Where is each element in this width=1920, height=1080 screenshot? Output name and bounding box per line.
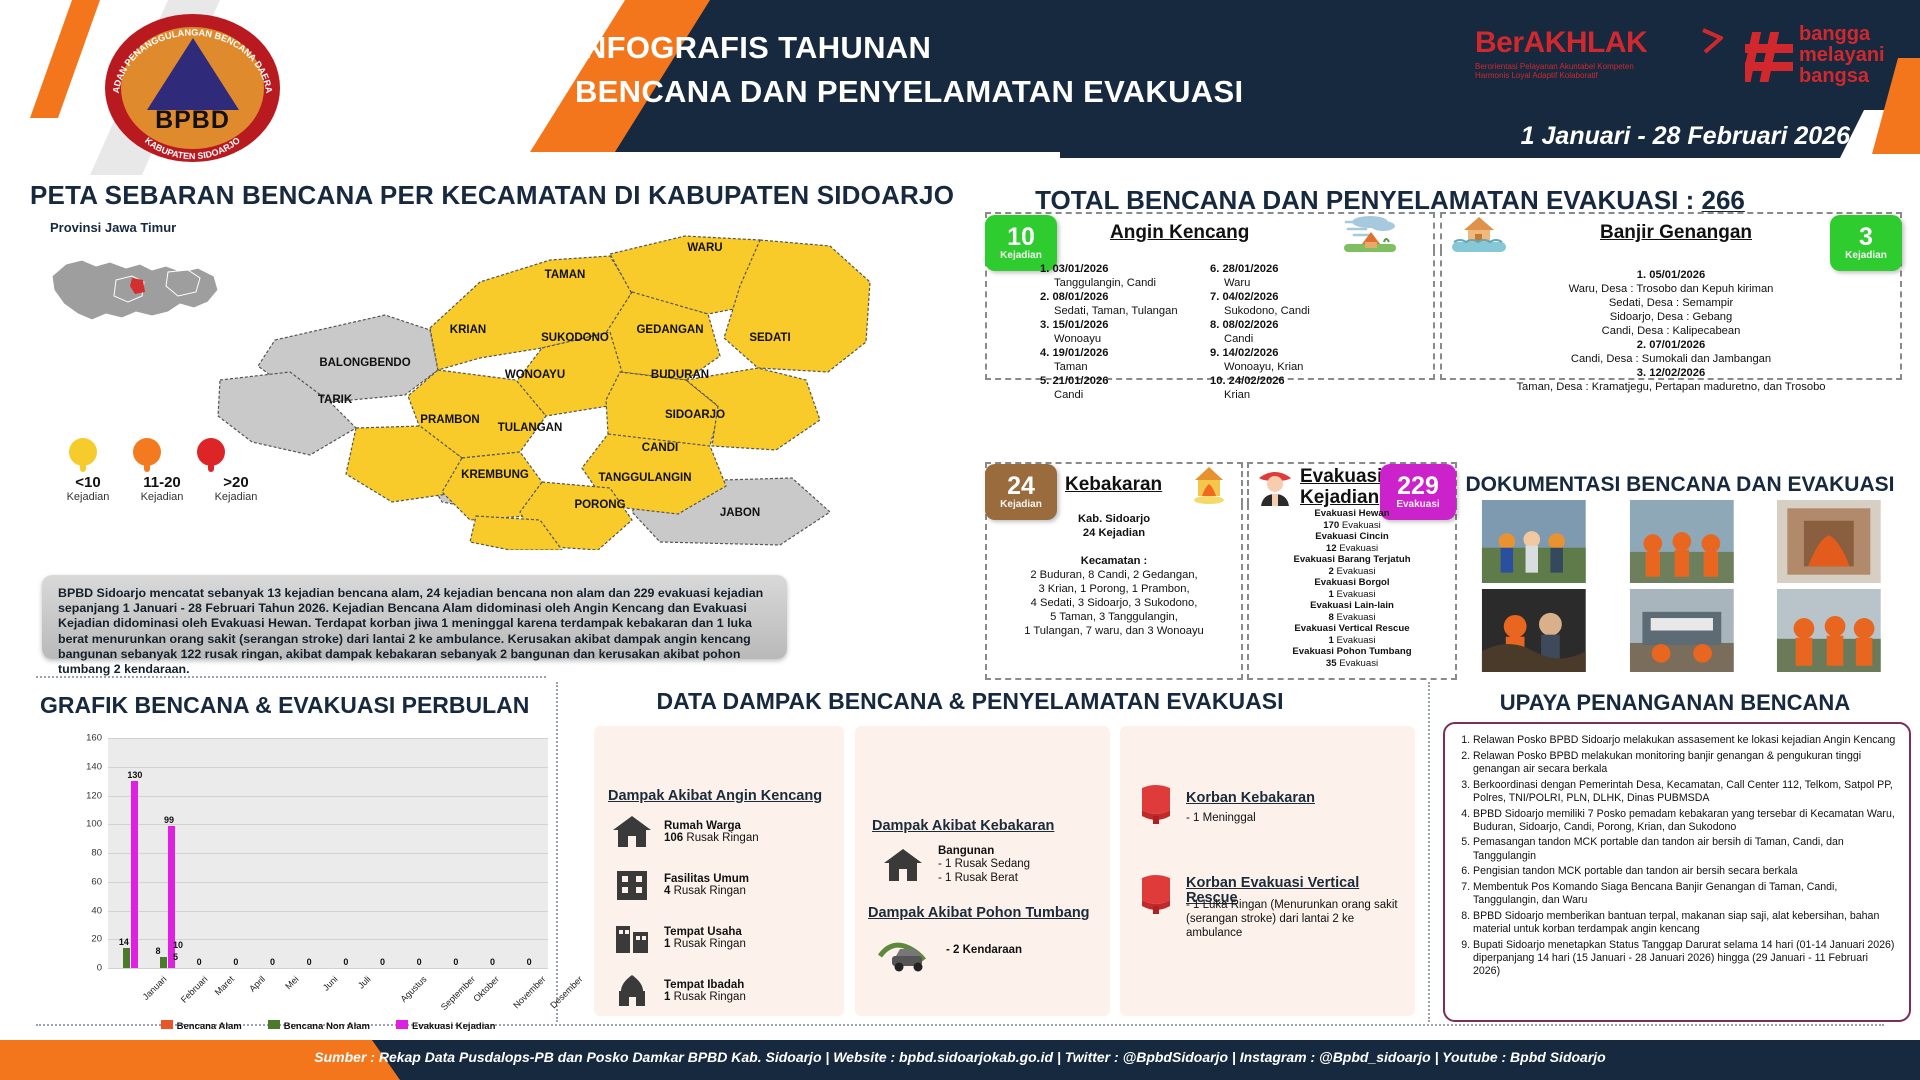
event-date: 2. 08/01/2026	[1040, 290, 1190, 304]
map-district-label: WARU	[687, 242, 722, 254]
chart-y-tick: 60	[91, 876, 102, 887]
victim-icon	[1136, 782, 1176, 824]
evakuasi-item-value: 170 Evakuasi	[1250, 520, 1454, 532]
chart-bar-label: 0	[453, 957, 458, 967]
chart-gridline	[108, 796, 548, 797]
photo-thumbnail[interactable]	[1758, 589, 1900, 672]
hashtag-icon	[1745, 28, 1795, 86]
summary-note-box: BPBD Sidoarjo mencatat sebanyak 13 kejad…	[42, 575, 787, 659]
legend-label: >20Kejadian	[203, 474, 269, 503]
chart-y-tick: 160	[86, 733, 102, 744]
header-orange-stripe-1	[30, 0, 100, 118]
bpbd-logo: BPBD BADAN PENANGGULANGAN BENCANA DAERAH…	[105, 14, 280, 162]
angin-kencang-item: 9. 14/02/2026Wonoayu, Krian	[1210, 346, 1370, 374]
event-place: Sedati, Taman, Tulangan	[1040, 304, 1190, 318]
monthly-chart: 02040608010012014016014130Januari899Febr…	[38, 728, 568, 1038]
map-district-label: TULANGAN	[498, 422, 563, 434]
chart-x-tick: November	[511, 974, 547, 1010]
page-title-line1: INFOGRAFIS TAHUNAN	[575, 26, 1243, 70]
total-count: 266	[1702, 185, 1745, 215]
shop-icon	[610, 919, 654, 957]
dampak-row: Rumah Warga106 Rusak Ringan	[610, 812, 842, 852]
chart-x-tick: Februari	[179, 974, 210, 1005]
svg-text:BADAN PENANGGULANGAN BENCANA D: BADAN PENANGGULANGAN BENCANA DAERAH	[105, 14, 274, 94]
divider-left	[36, 676, 546, 678]
event-place: Taman	[1040, 360, 1190, 374]
chart-legend: Bencana AlamBencana Non AlamEvakuasi Kej…	[108, 1020, 548, 1032]
chart-y-tick: 80	[91, 848, 102, 859]
bangga-line-2: melayani	[1799, 45, 1885, 66]
map-section-title: PETA SEBARAN BENCANA PER KECAMATAN DI KA…	[30, 180, 975, 211]
event-place: Tanggulangin, Candi	[1040, 276, 1190, 290]
upaya-item: BPBD Sidoarjo memberikan bantuan terpal,…	[1473, 910, 1897, 936]
dokumentasi-gallery	[1463, 500, 1900, 672]
legend-value: 11-20	[129, 474, 195, 491]
dampak-kebakaran-line2: - 1 Rusak Berat	[938, 871, 1108, 885]
page-header: BPBD BADAN PENANGGULANGAN BENCANA DAERAH…	[0, 0, 1920, 175]
dampak-pohon-heading: Dampak Akibat Pohon Tumbang	[868, 905, 1108, 921]
angin-kencang-item: 8. 08/02/2026Candi	[1210, 318, 1370, 346]
dampak-row: Fasilitas Umum4 Rusak Ringan	[610, 865, 842, 905]
total-title-prefix: TOTAL BENCANA DAN PENYELAMATAN EVAKUASI …	[1035, 185, 1701, 215]
legend-unit: Kejadian	[203, 491, 269, 503]
bangga-line-3: bangsa	[1799, 66, 1869, 87]
banjir-line: Candi, Desa : Kalipecabean	[1448, 324, 1894, 338]
chart-x-tick: September	[439, 974, 477, 1012]
map-district-label: WONOAYU	[505, 369, 565, 381]
chart-bar-label: 0	[380, 957, 385, 967]
event-date: 1. 03/01/2026	[1040, 262, 1190, 276]
map-district-label: SIDOARJO	[665, 409, 725, 421]
chart-title: GRAFIK BENCANA & EVAKUASI PERBULAN	[40, 692, 560, 719]
kebakaran-line: 24 Kejadian	[992, 526, 1236, 540]
banjir-line: Sedati, Desa : Semampir	[1448, 296, 1894, 310]
chart-legend-item: Bencana Alam	[161, 1020, 242, 1032]
legend-label: <10Kejadian	[55, 474, 121, 503]
upaya-box: Relawan Posko BPBD Sidoarjo melakukan as…	[1443, 722, 1911, 1022]
dampak-row-value: 106 Rusak Ringan	[664, 832, 759, 844]
berakhlak-wordmark: BerAKHLAK	[1475, 26, 1735, 60]
banjir-line: 2. 07/01/2026	[1448, 338, 1894, 352]
chart-x-tick: Januari	[141, 974, 169, 1002]
chart-bar-label: 8	[156, 946, 161, 956]
upaya-item: Pemasangan tandon MCK portable dan tando…	[1473, 836, 1897, 862]
legend-unit: Kejadian	[55, 491, 121, 503]
kebakaran-line: 5 Taman, 3 Tanggulangin,	[992, 610, 1236, 624]
dampak-row: Tempat Usaha1 Rusak Ringan	[610, 918, 842, 958]
chart-bar-label: 0	[307, 957, 312, 967]
map-district-label: TAMAN	[545, 269, 586, 281]
banjir-line: Candi, Desa : Sumokali dan Jambangan	[1448, 352, 1894, 366]
event-date: 10. 24/02/2026	[1210, 374, 1370, 388]
angin-kencang-item: 10. 24/02/2026Krian	[1210, 374, 1370, 402]
chart-bar-label: 130	[127, 770, 142, 780]
angin-kencang-item: 5. 21/01/2026Candi	[1040, 374, 1190, 402]
evakuasi-item-label: Evakuasi Pohon Tumbang	[1250, 646, 1454, 658]
evakuasi-item-label: Evakuasi Vertical Rescue	[1250, 623, 1454, 635]
chart-bar-label: 5	[173, 952, 178, 962]
fallen-tree-car-icon	[878, 934, 936, 972]
event-date: 4. 19/01/2026	[1040, 346, 1190, 360]
dampak-kebakaran-sub-label: Bangunan	[938, 845, 1108, 857]
chart-y-tick: 20	[91, 934, 102, 945]
event-date: 7. 04/02/2026	[1210, 290, 1370, 304]
banjir-line: Sidoarjo, Desa : Gebang	[1448, 310, 1894, 324]
berakhlak-logo: BerAKHLAK Berorientasi Pelayanan Akuntab…	[1475, 26, 1735, 96]
building-icon	[610, 866, 654, 904]
banjir-line: Waru, Desa : Trosobo dan Kepuh kiriman	[1448, 282, 1894, 296]
angin-kencang-item: 3. 15/01/2026Wonoayu	[1040, 318, 1190, 346]
dampak-angin-rows: Rumah Warga106 Rusak RinganFasilitas Umu…	[610, 812, 842, 1024]
evakuasi-item-label: Evakuasi Cincin	[1250, 531, 1454, 543]
upaya-item: Relawan Posko BPBD melakukan monitoring …	[1473, 750, 1897, 776]
province-label: Provinsi Jawa Timur	[50, 220, 176, 235]
legend-pin-icon	[133, 438, 161, 472]
svg-text:KABUPATEN SIDOARJO: KABUPATEN SIDOARJO	[143, 135, 242, 161]
angin-kencang-item: 4. 19/01/2026Taman	[1040, 346, 1190, 374]
photo-thumbnail[interactable]	[1611, 589, 1753, 672]
dampak-kebakaran-heading: Dampak Akibat Kebakaran	[872, 818, 1102, 834]
banjir-heading: Banjir Genangan	[1600, 222, 1752, 244]
legend-labels: <10Kejadian11-20Kejadian>20Kejadian	[55, 474, 245, 503]
map-district-label: TARIK	[318, 394, 352, 406]
angin-kencang-count-label: Kejadian	[1000, 250, 1042, 261]
chart-bar-label: 0	[343, 957, 348, 967]
dampak-row: Tempat Ibadah1 Rusak Ringan	[610, 971, 842, 1011]
kebakaran-details: Kab. Sidoarjo24 Kejadian Kecamatan :2 Bu…	[992, 512, 1236, 638]
legend-value: >20	[203, 474, 269, 491]
legend-pin-icon	[69, 438, 97, 472]
angin-kencang-item: 6. 28/01/2026Waru	[1210, 262, 1370, 290]
dampak-pohon-value: - 2 Kendaraan	[946, 944, 1022, 956]
event-date: 8. 08/02/2026	[1210, 318, 1370, 332]
dampak-row-value: 4 Rusak Ringan	[664, 885, 749, 897]
chart-y-tick: 140	[86, 761, 102, 772]
chart-bar	[160, 957, 167, 969]
chart-bar-label: 0	[417, 957, 422, 967]
map-district-label: BUDURAN	[651, 369, 709, 381]
map-district-label: SEDATI	[749, 332, 790, 344]
event-date: 9. 14/02/2026	[1210, 346, 1370, 360]
chart-y-tick: 40	[91, 905, 102, 916]
chart-bar-label: 0	[527, 957, 532, 967]
upaya-item: Berkoordinasi dengan Pemerintah Desa, Ke…	[1473, 779, 1897, 805]
chart-y-tick: 100	[86, 819, 102, 830]
dampak-row-value: 1 Rusak Ringan	[664, 938, 746, 950]
korban-kebakaran-heading: Korban Kebakaran	[1186, 790, 1406, 806]
chart-gridline	[108, 767, 548, 768]
kebakaran-count: 24	[1007, 474, 1035, 499]
chart-x-tick: Mei	[283, 974, 300, 991]
upaya-item: Bupati Sidoarjo menetapkan Status Tangga…	[1473, 939, 1897, 979]
chart-bar-label: 99	[164, 815, 174, 825]
footer-source-text: Sumber : Rekap Data Pusdalops-PB dan Pos…	[0, 1049, 1920, 1065]
evakuasi-item-value: 8 Evakuasi	[1250, 612, 1454, 624]
legend-pin-icon	[197, 438, 225, 472]
event-place: Waru	[1210, 276, 1370, 290]
event-date: 3. 15/01/2026	[1040, 318, 1190, 332]
berakhlak-subtitle-2: Harmonis Loyal Adaptif Kolaboratif	[1475, 71, 1735, 80]
event-place: Wonoayu	[1040, 332, 1190, 346]
chart-legend-item: Bencana Non Alam	[268, 1020, 370, 1032]
legend-unit: Kejadian	[129, 491, 195, 503]
banjir-line: 1. 05/01/2026	[1448, 268, 1894, 282]
firefighter-icon	[1253, 464, 1297, 508]
map-district-label: JABON	[720, 507, 760, 519]
kebakaran-line	[992, 540, 1236, 554]
kebakaran-count-label: Kejadian	[1000, 499, 1042, 510]
kebakaran-heading: Kebakaran	[1065, 474, 1162, 496]
chart-x-tick: April	[248, 974, 268, 994]
map-district-label: PRAMBON	[420, 414, 479, 426]
map-district-label: PORONG	[574, 499, 625, 511]
evakuasi-breakdown: Evakuasi Hewan170 EvakuasiEvakuasi Cinci…	[1250, 508, 1454, 669]
house-icon	[880, 845, 926, 885]
map-district-label: GEDANGAN	[636, 324, 703, 336]
angin-kencang-item: 7. 04/02/2026Sukodono, Candi	[1210, 290, 1370, 318]
map-district-label: KRIAN	[450, 324, 486, 336]
upaya-item: BPBD Sidoarjo memiliki 7 Posko pemadam k…	[1473, 808, 1897, 834]
chart-bar	[131, 781, 138, 968]
chart-gridline	[108, 968, 548, 969]
summary-note-text: BPBD Sidoarjo mencatat sebanyak 13 kejad…	[58, 586, 771, 677]
chart-bar-label: 0	[233, 957, 238, 967]
banjir-count-label: Kejadian	[1845, 250, 1887, 261]
chart-bar-label: 10	[173, 940, 183, 950]
kebakaran-line: Kab. Sidoarjo	[992, 512, 1236, 526]
wind-storm-icon	[1340, 212, 1400, 254]
angin-kencang-count: 10	[1007, 225, 1035, 250]
chart-gridline	[108, 738, 548, 739]
kebakaran-line: 1 Tulangan, 7 waru, dan 3 Wonoayu	[992, 624, 1236, 638]
page-footer: Sumber : Rekap Data Pusdalops-PB dan Pos…	[0, 1040, 1920, 1080]
bangga-line-1: bangga	[1799, 24, 1870, 45]
banjir-line: 3. 12/02/2026	[1448, 366, 1894, 380]
kebakaran-line: Kecamatan :	[992, 554, 1236, 568]
angin-kencang-item: 1. 03/01/2026Tanggulangin, Candi	[1040, 262, 1190, 290]
page-title-line2: BENCANA DAN PENYELAMATAN EVAKUASI	[575, 70, 1243, 114]
legend-label: 11-20Kejadian	[129, 474, 195, 503]
angin-kencang-heading: Angin Kencang	[1110, 222, 1249, 244]
chart-plot-area: 02040608010012014016014130Januari899Febr…	[108, 738, 548, 968]
dokumentasi-title: DOKUMENTASI BENCANA DAN EVAKUASI	[1460, 473, 1900, 497]
map-legend: <10Kejadian11-20Kejadian>20Kejadian	[55, 438, 245, 503]
event-place: Wonoayu, Krian	[1210, 360, 1370, 374]
evakuasi-item-value: 1 Evakuasi	[1250, 589, 1454, 601]
chart-x-tick: Maret	[212, 974, 235, 997]
dampak-kebakaran-line1: - 1 Rusak Sedang	[938, 857, 1108, 871]
upaya-item: Relawan Posko BPBD Sidoarjo melakukan as…	[1473, 734, 1897, 747]
event-place: Krian	[1210, 388, 1370, 402]
berakhlak-subtitle-1: Berorientasi Pelayanan Akuntabel Kompete…	[1475, 62, 1735, 71]
dampak-row-label: Fasilitas Umum	[664, 873, 749, 885]
sidoarjo-district-map	[180, 220, 900, 550]
logo-arc-text: BADAN PENANGGULANGAN BENCANA DAERAH KABU…	[105, 14, 280, 162]
chart-legend-item: Evakuasi Kejadian	[396, 1020, 495, 1032]
page-title: INFOGRAFIS TAHUNAN BENCANA DAN PENYELAMA…	[575, 26, 1243, 114]
chart-bar-label: 14	[119, 937, 129, 947]
korban-vr-value: - 1 Luka Ringan (Menurunkan orang sakit …	[1186, 898, 1401, 940]
evakuasi-item-value: 12 Evakuasi	[1250, 543, 1454, 555]
dampak-row-label: Tempat Ibadah	[664, 979, 746, 991]
map-panel: PETA SEBARAN BENCANA PER KECAMATAN DI KA…	[30, 180, 975, 570]
angin-kencang-list-right: 6. 28/01/2026Waru7. 04/02/2026Sukodono, …	[1210, 262, 1370, 402]
map-district-label: SUKODONO	[541, 332, 609, 344]
evakuasi-count: 229	[1397, 474, 1439, 499]
date-range-banner: 1 Januari - 28 Februari 2026	[1060, 118, 1920, 158]
photo-thumbnail[interactable]	[1758, 500, 1900, 583]
korban-box	[1120, 726, 1415, 1016]
upaya-title: UPAYA PENANGANAN BENCANA	[1440, 690, 1910, 716]
evakuasi-item-value: 35 Evakuasi	[1250, 658, 1454, 670]
evakuasi-item-value: 1 Evakuasi	[1250, 635, 1454, 647]
evakuasi-item-value: 2 Evakuasi	[1250, 566, 1454, 578]
chart-bar	[123, 948, 130, 968]
upaya-list: Relawan Posko BPBD Sidoarjo melakukan as…	[1473, 734, 1897, 978]
kebakaran-line: 2 Buduran, 8 Candi, 2 Gedangan,	[992, 568, 1236, 582]
kebakaran-line: 3 Krian, 1 Porong, 1 Prambon,	[992, 582, 1236, 596]
map-district-label: BALONGBENDO	[319, 357, 410, 369]
banjir-list: 1. 05/01/2026Waru, Desa : Trosobo dan Ke…	[1448, 268, 1894, 394]
evakuasi-item-label: Evakuasi Lain-lain	[1250, 600, 1454, 612]
chart-bar-label: 0	[490, 957, 495, 967]
house-icon	[610, 813, 654, 851]
angin-kencang-item: 2. 08/01/2026Sedati, Taman, Tulangan	[1040, 290, 1190, 318]
chart-bar-label: 0	[197, 957, 202, 967]
legend-value: <10	[55, 474, 121, 491]
evakuasi-item-label: Evakuasi Borgol	[1250, 577, 1454, 589]
berakhlak-swoosh-icon	[1701, 28, 1723, 54]
chart-x-tick: Agustus	[399, 974, 429, 1004]
dampak-angin-heading: Dampak Akibat Angin Kencang	[608, 788, 838, 804]
chart-y-tick: 0	[97, 963, 102, 974]
evakuasi-item-label: Evakuasi Barang Terjatuh	[1250, 554, 1454, 566]
upaya-item: Pengisian tandon MCK portable dan tandon…	[1473, 865, 1897, 878]
map-district-label: KREMBUNG	[461, 469, 529, 481]
event-place: Sukodono, Candi	[1210, 304, 1370, 318]
flooded-house-icon	[1450, 212, 1508, 254]
event-place: Candi	[1040, 388, 1190, 402]
photo-thumbnail[interactable]	[1611, 500, 1753, 583]
chart-y-tick: 120	[86, 790, 102, 801]
chart-x-tick: Juli	[356, 974, 373, 991]
kebakaran-line: 4 Sedati, 3 Sidoarjo, 3 Sukodono,	[992, 596, 1236, 610]
evakuasi-item-label: Evakuasi Hewan	[1250, 508, 1454, 520]
banjir-badge: 3 Kejadian	[1830, 215, 1902, 271]
event-date: 5. 21/01/2026	[1040, 374, 1190, 388]
victim-icon	[1136, 872, 1176, 914]
map-district-label: CANDI	[642, 442, 678, 454]
divider-vertical-2	[1428, 682, 1430, 1022]
burning-house-icon	[1185, 464, 1233, 506]
date-range-text: 1 Januari - 28 Februari 2026	[1060, 122, 1850, 151]
photo-thumbnail[interactable]	[1463, 500, 1605, 583]
photo-thumbnail[interactable]	[1463, 589, 1605, 672]
chart-x-tick: Juni	[320, 974, 339, 993]
chart-x-tick: Oktober	[472, 974, 502, 1004]
dampak-kebakaran-detail: Bangunan - 1 Rusak Sedang - 1 Rusak Bera…	[938, 845, 1108, 885]
event-place: Candi	[1210, 332, 1370, 346]
korban-kebakaran-value: - 1 Meninggal	[1186, 812, 1256, 824]
angin-kencang-list-left: 1. 03/01/2026Tanggulangin, Candi2. 08/01…	[1040, 262, 1190, 402]
event-date: 6. 28/01/2026	[1210, 262, 1370, 276]
map-district-label: TANGGULANGIN	[598, 472, 691, 484]
upaya-item: Membentuk Pos Komando Siaga Bencana Banj…	[1473, 881, 1897, 907]
banjir-count: 3	[1859, 225, 1873, 250]
mosque-icon	[610, 972, 654, 1010]
legend-pins	[55, 438, 245, 472]
dampak-row-label: Tempat Usaha	[664, 926, 746, 938]
banjir-line: Taman, Desa : Kramatjegu, Pertapan madur…	[1448, 380, 1894, 394]
chart-bar-label: 0	[270, 957, 275, 967]
chart-x-tick: Desember	[548, 974, 584, 1010]
dampak-title: DATA DAMPAK BENCANA & PENYELAMATAN EVAKU…	[545, 688, 1395, 715]
dampak-row-label: Rumah Warga	[664, 820, 759, 832]
dampak-row-value: 1 Rusak Ringan	[664, 991, 746, 1003]
